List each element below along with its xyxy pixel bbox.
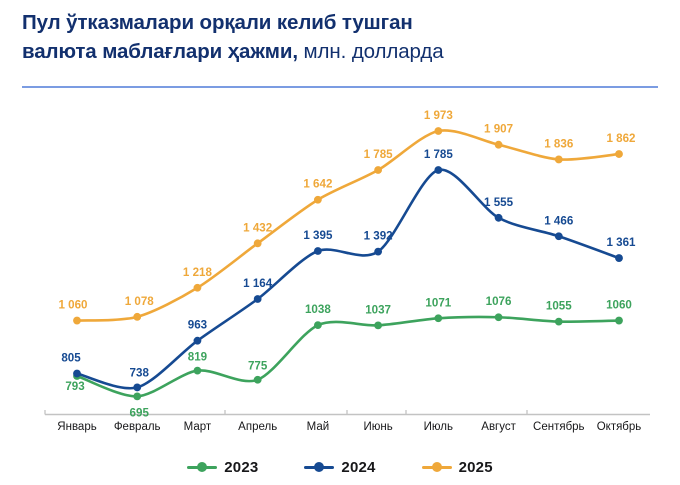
data-point-2023-Сентябрь[interactable] [555,318,563,326]
data-point-2023-Октябрь[interactable] [615,317,623,325]
x-axis-label-Февраль: Февраль [114,421,161,433]
value-label-2024-Июль: 1 785 [424,148,454,161]
value-label-2024-Январь: 805 [61,352,81,365]
value-label-2024-Июнь: 1 392 [364,230,393,243]
value-label-2023-Июнь: 1037 [365,303,391,316]
value-label-2025-Июнь: 1 785 [364,148,394,161]
x-axis-label-Март: Март [184,421,212,433]
value-label-2023-Март: 819 [188,351,208,364]
x-axis-label-Октябрь: Октябрь [597,421,642,433]
value-label-2024-Октябрь: 1 361 [606,236,636,249]
value-label-2025-Сентябрь: 1 836 [544,137,574,150]
x-axis-label-Июль: Июль [424,421,453,433]
value-label-2023-Февраль: 695 [130,406,150,419]
legend-item-2025[interactable]: 2025 [422,459,493,476]
legend-marker-icon-2025 [422,461,452,473]
value-label-2025-Май: 1 642 [303,178,332,191]
value-label-2025-Январь: 1 060 [58,299,87,312]
value-label-2025-Август: 1 907 [484,123,513,136]
data-point-2025-Август[interactable] [495,141,503,149]
legend-label-2023: 2023 [224,459,258,476]
value-label-2023-Октябрь: 1060 [606,299,632,312]
data-point-2023-Май[interactable] [314,321,322,329]
line-chart-svg: 7936958197751038103710711076105510608057… [0,0,680,485]
chart-legend: 202320242025 [0,455,680,479]
legend-marker-icon-2024 [304,461,334,473]
series-line-2023 [77,317,619,396]
data-point-2025-Октябрь[interactable] [615,150,623,158]
data-point-2025-Май[interactable] [314,196,322,204]
data-point-2024-Май[interactable] [314,247,322,255]
value-label-2024-Февраль: 738 [130,366,150,379]
data-point-2024-Январь[interactable] [73,370,81,378]
data-point-2023-Февраль[interactable] [133,392,141,400]
chart-value-labels: 7936958197751038103710711076105510608057… [58,109,636,419]
value-label-2023-Август: 1076 [486,295,512,308]
data-point-2024-Февраль[interactable] [133,384,141,392]
value-label-2023-Июль: 1071 [425,296,451,309]
value-label-2025-Март: 1 218 [183,266,213,279]
value-label-2025-Февраль: 1 078 [125,295,155,308]
x-axis-label-Август: Август [481,421,516,433]
legend-item-2024[interactable]: 2024 [304,459,375,476]
chart-page: Пул ўтказмалари орқали келиб тушган валю… [0,0,680,485]
value-label-2025-Июль: 1 973 [424,109,454,122]
data-point-2025-Февраль[interactable] [133,313,141,321]
data-point-2025-Сентябрь[interactable] [555,156,563,164]
legend-item-2023[interactable]: 2023 [187,459,258,476]
series-line-2024 [77,170,619,389]
x-axis-labels: ЯнварьФевральМартАпрельМайИюньИюльАвгуст… [0,421,680,443]
data-point-2023-Апрель[interactable] [254,376,262,384]
chart-series-group [73,127,623,400]
value-label-2023-Апрель: 775 [248,360,268,373]
value-label-2023-Сентябрь: 1055 [546,300,572,313]
data-point-2025-Апрель[interactable] [254,239,262,247]
data-point-2023-Март[interactable] [194,367,202,375]
value-label-2024-Сентябрь: 1 466 [544,214,574,227]
value-label-2024-Март: 963 [188,319,208,332]
data-point-2024-Июль[interactable] [434,166,442,174]
series-line-2025 [77,130,619,320]
legend-marker-icon-2023 [187,461,217,473]
data-point-2024-Апрель[interactable] [254,295,262,303]
data-point-2024-Август[interactable] [495,214,503,222]
data-point-2025-Март[interactable] [194,284,202,292]
data-point-2023-Август[interactable] [495,313,503,321]
value-label-2023-Май: 1038 [305,303,331,316]
data-point-2024-Июнь[interactable] [374,248,382,256]
data-point-2025-Июнь[interactable] [374,166,382,174]
value-label-2025-Октябрь: 1 862 [606,132,635,145]
value-label-2024-Апрель: 1 164 [243,277,273,290]
data-point-2024-Март[interactable] [194,337,202,345]
legend-label-2024: 2024 [341,459,375,476]
data-point-2024-Октябрь[interactable] [615,254,623,262]
data-point-2025-Июль[interactable] [434,127,442,135]
data-point-2024-Сентябрь[interactable] [555,232,563,240]
chart-plot-area: 7936958197751038103710711076105510608057… [0,0,680,485]
x-axis-label-Май: Май [307,421,330,433]
value-label-2025-Апрель: 1 432 [243,221,272,234]
x-axis-label-Июнь: Июнь [363,421,392,433]
value-label-2023-Январь: 793 [65,380,85,393]
x-axis-label-Апрель: Апрель [238,421,277,433]
data-point-2023-Июль[interactable] [434,314,442,322]
x-axis-label-Январь: Январь [57,421,96,433]
legend-label-2025: 2025 [459,459,493,476]
data-point-2025-Январь[interactable] [73,317,81,325]
x-axis-label-Сентябрь: Сентябрь [533,421,585,433]
data-point-2023-Июнь[interactable] [374,321,382,329]
value-label-2024-Август: 1 555 [484,196,514,209]
value-label-2024-Май: 1 395 [303,229,333,242]
